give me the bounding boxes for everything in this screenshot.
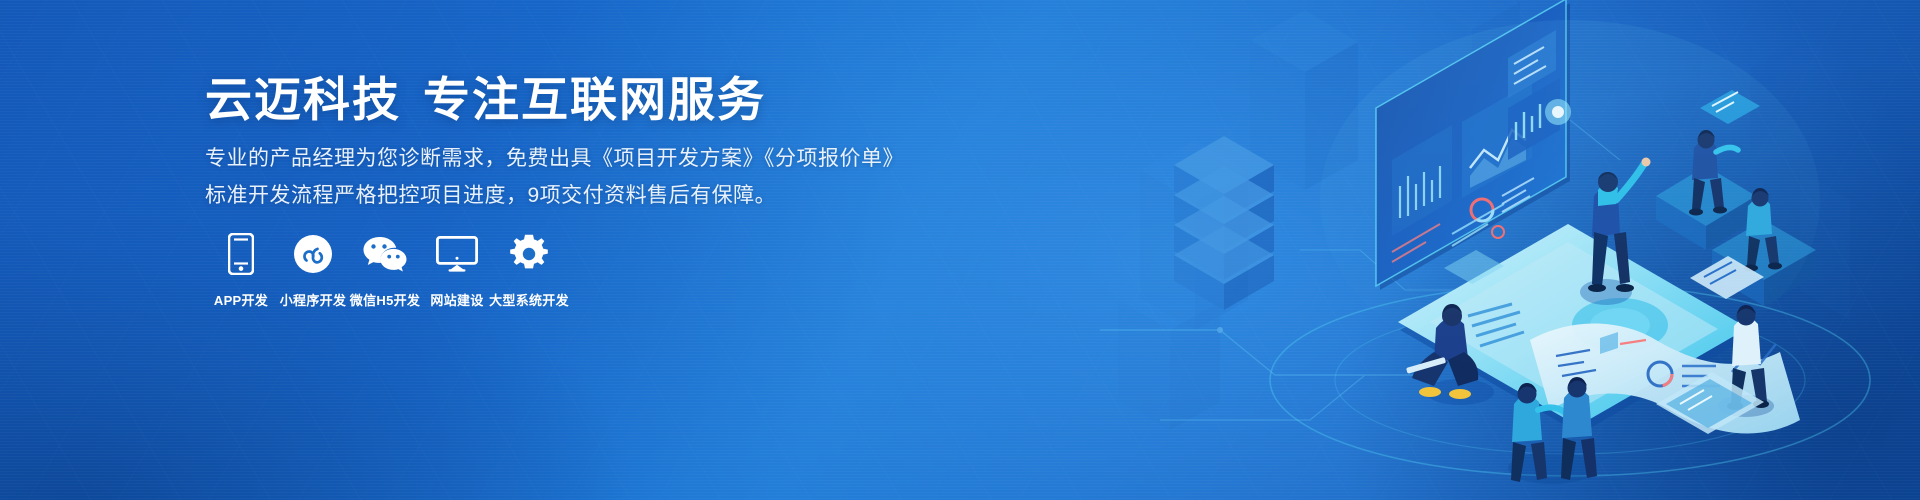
hero-banner: 云迈科技专注互联网服务 专业的产品经理为您诊断需求，免费出具《项目开发方案》《分…: [0, 0, 1920, 500]
service-label: APP开发: [214, 290, 268, 309]
wechat-icon: [362, 232, 408, 276]
service-item-app[interactable]: APP开发: [205, 232, 277, 309]
headline-tagline: 专注互联网服务: [423, 73, 766, 126]
service-label: 小程序开发: [280, 290, 347, 309]
gear-icon: [509, 232, 549, 276]
subtitle-line-2: 标准开发流程严格把控项目进度，9项交付资料售后有保障。: [205, 185, 776, 206]
service-label: 大型系统开发: [489, 290, 569, 309]
service-item-website[interactable]: 网站建设: [421, 232, 493, 309]
monitor-icon: [436, 232, 478, 276]
service-item-wechat-h5[interactable]: 微信H5开发: [349, 232, 421, 309]
service-label: 网站建设: [430, 290, 483, 309]
service-list: APP开发 小程序开发: [205, 232, 565, 309]
subtitle-line-1: 专业的产品经理为您诊断需求，免费出具《项目开发方案》《分项报价单》: [205, 148, 904, 169]
mini-program-icon: [293, 232, 333, 276]
service-item-mini-program[interactable]: 小程序开发: [277, 232, 349, 309]
service-label: 微信H5开发: [350, 290, 420, 309]
mobile-phone-icon: [228, 232, 254, 276]
page-title: 云迈科技专注互联网服务: [205, 74, 766, 126]
headline-brand: 云迈科技: [205, 73, 401, 126]
service-item-large-system[interactable]: 大型系统开发: [493, 232, 565, 309]
hero-content: 云迈科技专注互联网服务 专业的产品经理为您诊断需求，免费出具《项目开发方案》《分…: [205, 0, 925, 500]
